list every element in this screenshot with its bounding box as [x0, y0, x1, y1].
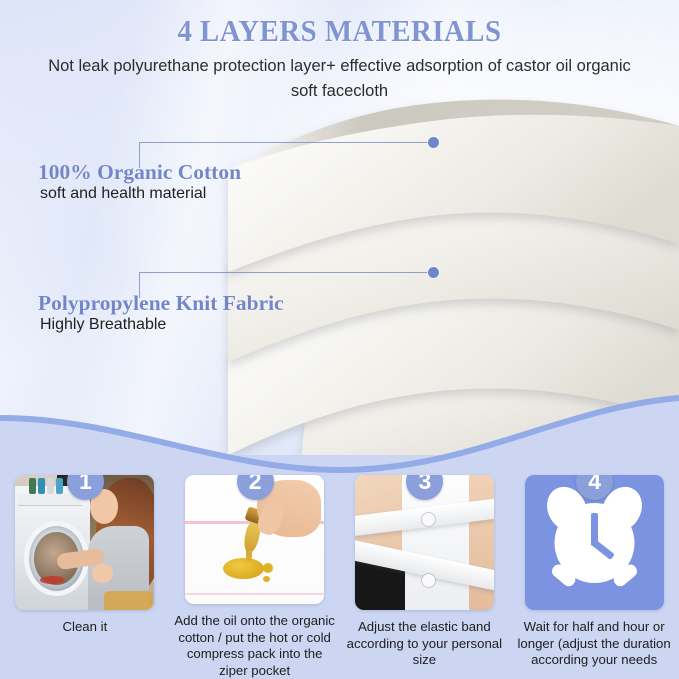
step-caption-2: Add the oil onto the organic cotton / pu…	[172, 613, 337, 679]
elastic-band-photo[interactable]: 3	[355, 475, 494, 610]
page-title: 4 LAYERS MATERIALS	[24, 13, 655, 49]
step-caption-1: Clean it	[2, 619, 167, 636]
page-subtitle: Not leak polyurethane protection layer+ …	[36, 54, 643, 104]
materials-section: 4 LAYERS MATERIALS Not leak polyurethane…	[0, 0, 679, 470]
step-2[interactable]: 2 Add the oil onto the organic cotton / …	[170, 462, 340, 679]
step-1[interactable]: 1	[0, 462, 170, 679]
callout-title-organic-cotton: 100% Organic Cotton	[38, 160, 241, 185]
callout-dot-organic-cotton	[428, 137, 439, 148]
oil-dropper-photo[interactable]: 2	[185, 475, 324, 604]
callout-dot-polypropylene	[428, 267, 439, 278]
steps-row: 1	[0, 462, 679, 679]
step-3[interactable]: 3 Adjust the elastic band according to y…	[340, 462, 510, 679]
washing-machine-photo[interactable]: 1	[15, 475, 154, 610]
callout-subtitle-polypropylene: Highly Breathable	[40, 316, 166, 334]
callout-title-polypropylene: Polypropylene Knit Fabric	[38, 291, 284, 316]
leader-line-horizontal-1	[139, 142, 435, 143]
step-caption-4: Wait for half and hour or longer (adjust…	[512, 619, 677, 669]
callout-subtitle-organic-cotton: soft and health material	[40, 185, 206, 203]
leader-line-horizontal-2	[139, 272, 435, 273]
step-caption-3: Adjust the elastic band according to you…	[342, 619, 507, 669]
alarm-clock-panel[interactable]: 4	[525, 475, 664, 610]
infographic-root: 4 LAYERS MATERIALS Not leak polyurethane…	[0, 0, 679, 679]
step-4[interactable]: 4 Wa	[509, 462, 679, 679]
